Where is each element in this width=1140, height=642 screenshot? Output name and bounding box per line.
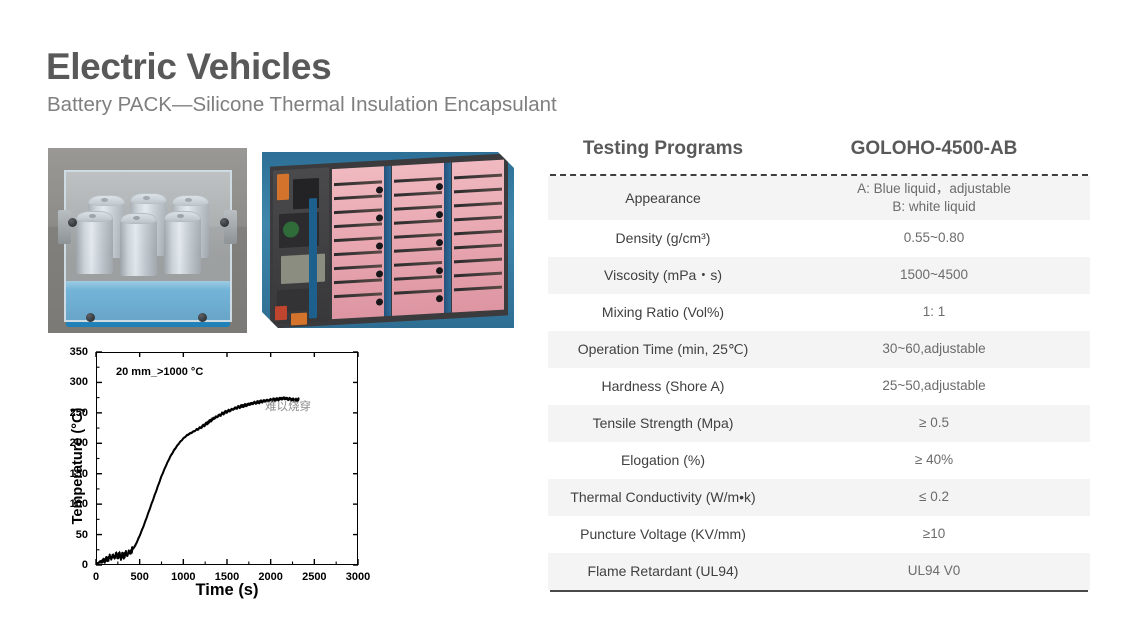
table-row: Puncture Voltage (KV/mm)≥10 xyxy=(548,516,1090,553)
spec-value: ≥ 40% xyxy=(778,448,1090,472)
chart-svg xyxy=(44,345,374,600)
y-tick-label: 350 xyxy=(48,346,88,358)
y-axis-title: Temperature (°C) xyxy=(70,376,86,556)
mounting-bracket xyxy=(58,210,71,244)
pack-housing xyxy=(270,153,508,328)
temperature-time-chart: 0501001502002503003500500100015002000250… xyxy=(44,345,374,600)
y-tick-label: 0 xyxy=(48,559,88,571)
table-row: Hardness (Shore A)25~50,adjustable xyxy=(548,368,1090,405)
table-row: Flame Retardant (UL94)UL94 V0 xyxy=(548,553,1090,590)
spec-value: 1500~4500 xyxy=(778,263,1090,287)
table-row: Mixing Ratio (Vol%)1: 1 xyxy=(548,294,1090,331)
column-header-product: GOLOHO-4500-AB xyxy=(778,138,1090,160)
temperature-curve xyxy=(96,397,299,563)
spec-name: Viscosity (mPa・s) xyxy=(548,263,778,288)
temperature-curve-noise xyxy=(96,397,298,564)
specification-table: Testing Programs GOLOHO-4500-AB Appearan… xyxy=(548,138,1090,592)
spec-value: 1: 1 xyxy=(778,300,1090,324)
table-row: Elogation (%)≥ 40% xyxy=(548,442,1090,479)
bolt xyxy=(198,313,207,322)
pack-electronics xyxy=(273,167,329,324)
chart-annotation-thickness: 20 mm_>1000 °C xyxy=(116,366,203,378)
table-row: Tensile Strength (Mpa)≥ 0.5 xyxy=(548,405,1090,442)
spec-value: 0.55~0.80 xyxy=(778,226,1090,250)
table-row: Operation Time (min, 25℃)30~60,adjustabl… xyxy=(548,331,1090,368)
table-row: Thermal Conductivity (W/m•k)≤ 0.2 xyxy=(548,479,1090,516)
spec-value: ≥ 0.5 xyxy=(778,411,1090,435)
spec-name: Elogation (%) xyxy=(548,448,778,473)
spec-name: Flame Retardant (UL94) xyxy=(548,559,778,584)
spec-name: Operation Time (min, 25℃) xyxy=(548,337,778,362)
page-title: Electric Vehicles xyxy=(46,48,331,87)
table-body: AppearanceA: Blue liquid，adjustable B: w… xyxy=(548,176,1090,590)
spec-value: ≤ 0.2 xyxy=(778,485,1090,509)
page-subtitle: Battery PACK—Silicone Thermal Insulation… xyxy=(47,94,557,117)
spec-name: Appearance xyxy=(548,186,778,211)
spec-value: UL94 V0 xyxy=(778,559,1090,583)
bolt xyxy=(220,218,229,227)
acrylic-enclosure xyxy=(64,170,232,322)
column-header-testing-programs: Testing Programs xyxy=(548,138,778,160)
bolt xyxy=(68,218,77,227)
photo-background xyxy=(262,152,514,328)
battery-pack-photo xyxy=(256,146,520,334)
chart-annotation-burnthrough: 难以烧穿 xyxy=(265,398,311,414)
spec-value: ≥10 xyxy=(778,522,1090,546)
x-axis-title: Time (s) xyxy=(96,581,358,600)
spec-name: Tensile Strength (Mpa) xyxy=(548,411,778,436)
spec-value: 25~50,adjustable xyxy=(778,374,1090,398)
battery-cells-photo xyxy=(48,148,247,333)
table-row: Density (g/cm³)0.55~0.80 xyxy=(548,220,1090,257)
spec-value: A: Blue liquid，adjustable B: white liqui… xyxy=(778,177,1090,219)
table-row: AppearanceA: Blue liquid，adjustable B: w… xyxy=(548,176,1090,220)
table-bottom-border xyxy=(550,590,1088,592)
table-row: Viscosity (mPa・s)1500~4500 xyxy=(548,257,1090,294)
spec-name: Puncture Voltage (KV/mm) xyxy=(548,522,778,547)
spec-name: Hardness (Shore A) xyxy=(548,374,778,399)
mounting-bracket xyxy=(224,210,237,244)
spec-value: 30~60,adjustable xyxy=(778,337,1090,361)
bolt xyxy=(86,313,95,322)
axis-ticks xyxy=(96,352,358,565)
spec-name: Thermal Conductivity (W/m•k) xyxy=(548,485,778,510)
spec-name: Density (g/cm³) xyxy=(548,226,778,251)
spec-name: Mixing Ratio (Vol%) xyxy=(548,300,778,325)
table-header-row: Testing Programs GOLOHO-4500-AB xyxy=(548,138,1090,174)
